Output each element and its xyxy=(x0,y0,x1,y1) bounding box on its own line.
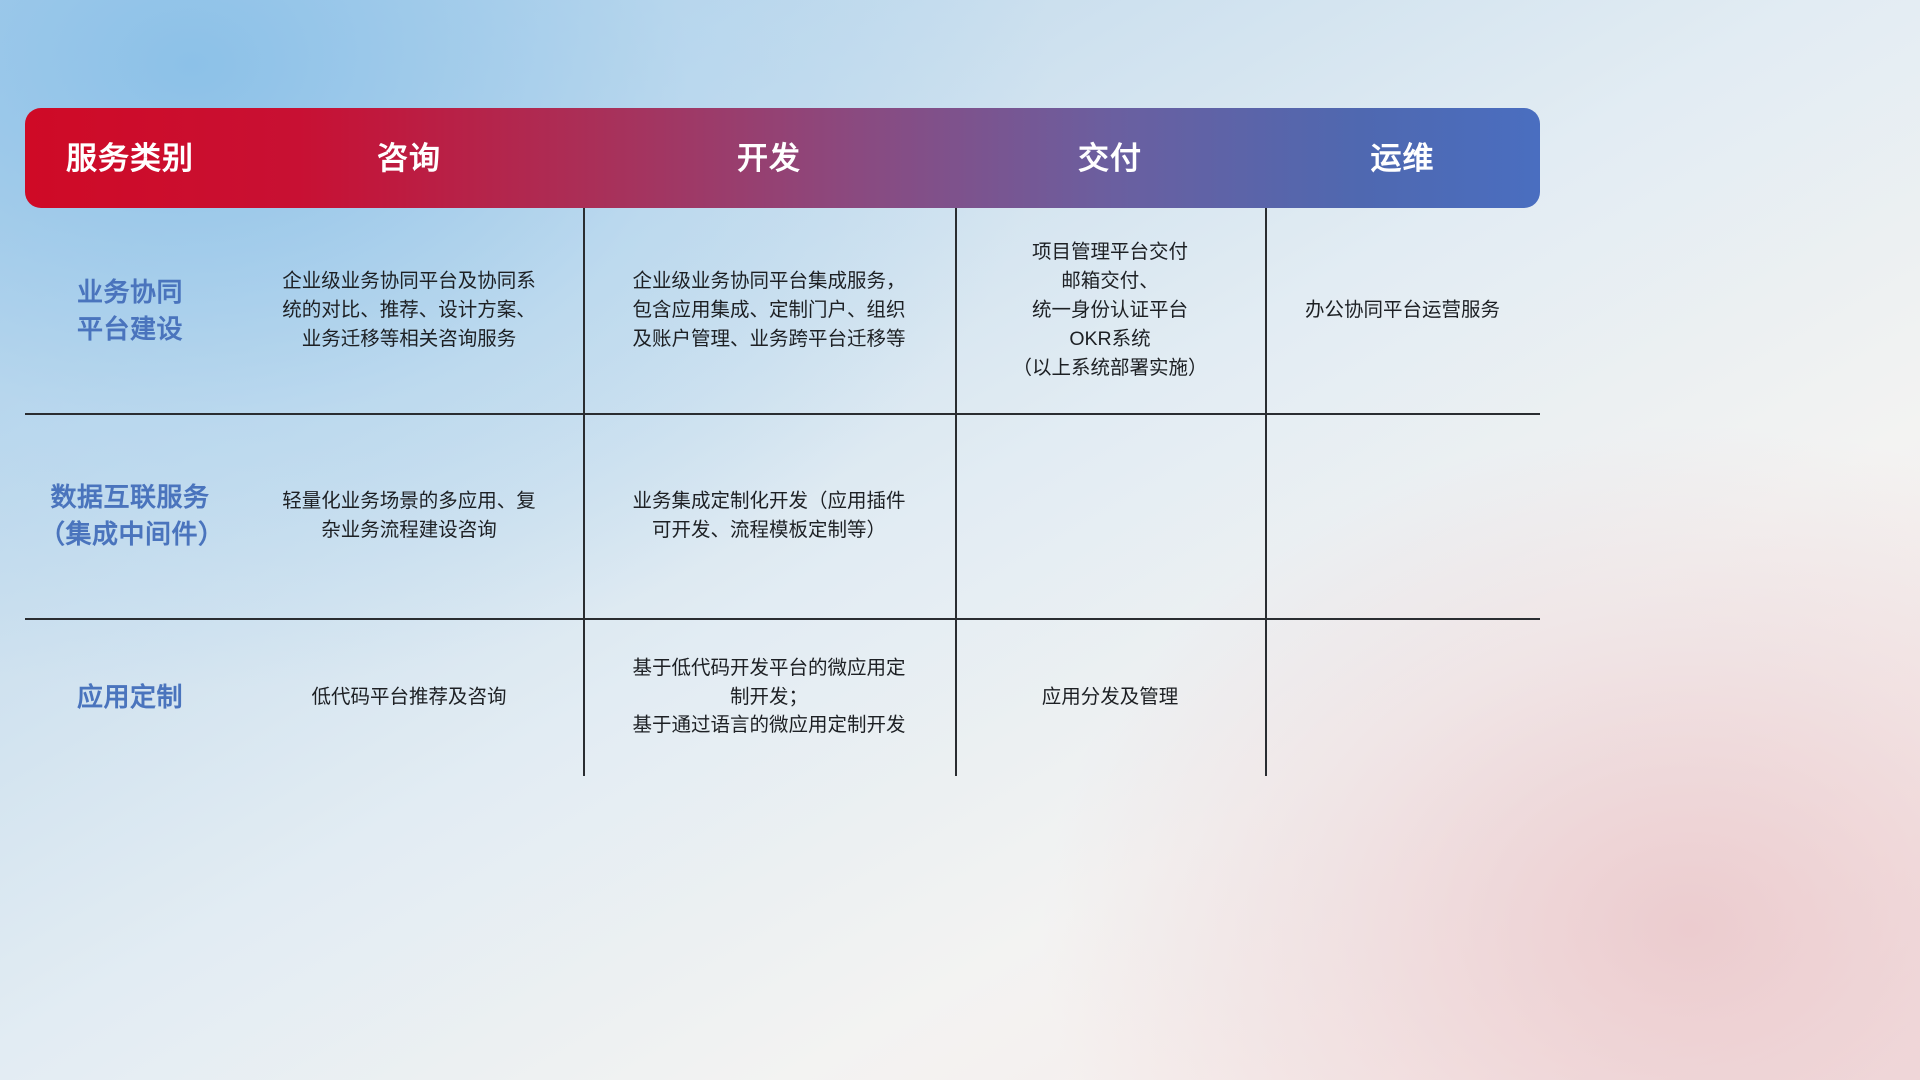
row-label-app-customization: 应用定制 xyxy=(25,618,235,776)
service-matrix-table: 服务类别 咨询 开发 交付 运维 业务协同 平台建设 企业级业务协同平台及协同系… xyxy=(25,108,1540,776)
table-row: 应用定制 低代码平台推荐及咨询 基于低代码开发平台的微应用定 制开发； 基于通过… xyxy=(25,618,1540,776)
table-body: 业务协同 平台建设 企业级业务协同平台及协同系 统的对比、推荐、设计方案、 业务… xyxy=(25,208,1540,776)
table-header-row: 服务类别 咨询 开发 交付 运维 xyxy=(25,108,1540,208)
row-label-data-interconnect: 数据互联服务 （集成中间件） xyxy=(25,413,235,618)
cell-consulting-row3: 低代码平台推荐及咨询 xyxy=(235,618,583,776)
cell-development-row1: 企业级业务协同平台集成服务， 包含应用集成、定制门户、组织 及账户管理、业务跨平… xyxy=(583,208,955,413)
cell-operations-row2 xyxy=(1265,413,1540,618)
cell-consulting-row2: 轻量化业务场景的多应用、复 杂业务流程建设咨询 xyxy=(235,413,583,618)
cell-development-row3: 基于低代码开发平台的微应用定 制开发； 基于通过语言的微应用定制开发 xyxy=(583,618,955,776)
cell-delivery-row1: 项目管理平台交付 邮箱交付、 统一身份认证平台 OKR系统 （以上系统部署实施） xyxy=(955,208,1265,413)
cell-consulting-row1: 企业级业务协同平台及协同系 统的对比、推荐、设计方案、 业务迁移等相关咨询服务 xyxy=(235,208,583,413)
cell-development-row2: 业务集成定制化开发（应用插件 可开发、流程模板定制等） xyxy=(583,413,955,618)
cell-delivery-row3: 应用分发及管理 xyxy=(955,618,1265,776)
cell-operations-row3 xyxy=(1265,618,1540,776)
column-header-delivery[interactable]: 交付 xyxy=(955,108,1265,208)
table-row: 业务协同 平台建设 企业级业务协同平台及协同系 统的对比、推荐、设计方案、 业务… xyxy=(25,208,1540,413)
cell-delivery-row2 xyxy=(955,413,1265,618)
column-header-operations[interactable]: 运维 xyxy=(1265,108,1540,208)
column-header-category[interactable]: 服务类别 xyxy=(25,108,235,208)
row-label-business-collaboration: 业务协同 平台建设 xyxy=(25,208,235,413)
column-header-development[interactable]: 开发 xyxy=(583,108,955,208)
table-row: 数据互联服务 （集成中间件） 轻量化业务场景的多应用、复 杂业务流程建设咨询 业… xyxy=(25,413,1540,618)
cell-operations-row1: 办公协同平台运营服务 xyxy=(1265,208,1540,413)
slide-canvas: 服务类别 咨询 开发 交付 运维 业务协同 平台建设 企业级业务协同平台及协同系… xyxy=(0,0,1920,1080)
column-header-consulting[interactable]: 咨询 xyxy=(235,108,583,208)
